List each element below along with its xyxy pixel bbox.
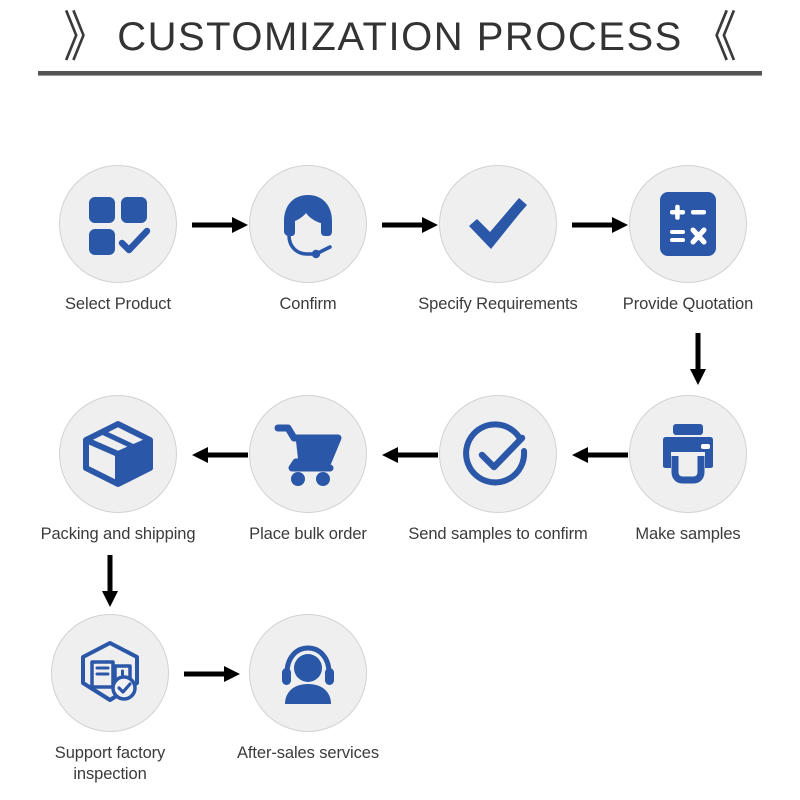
flow-step-label: Confirm bbox=[208, 294, 408, 315]
flow-step-select-product[interactable]: Select Product bbox=[18, 165, 218, 315]
calculator-icon bbox=[656, 190, 720, 258]
checkmark-icon bbox=[463, 189, 533, 259]
flow-step-icon-circle bbox=[439, 395, 557, 513]
package-box-icon bbox=[82, 420, 154, 488]
arrow-row2-to-row3 bbox=[98, 553, 122, 609]
shopping-cart-icon bbox=[272, 420, 344, 488]
title-divider bbox=[38, 71, 762, 76]
flow-step-icon-circle bbox=[249, 395, 367, 513]
flow-step-label: Specify Requirements bbox=[398, 294, 598, 315]
grid-check-icon bbox=[83, 189, 153, 259]
factory-inspection-icon bbox=[75, 638, 145, 708]
double-chevron-right-icon: 》 bbox=[63, 10, 109, 64]
flow-step-support-factory-inspection[interactable]: Support factory inspection bbox=[10, 614, 210, 785]
flow-step-icon-circle bbox=[59, 165, 177, 283]
flow-step-make-samples[interactable]: Make samples bbox=[588, 395, 788, 545]
flow-step-specify-requirements[interactable]: Specify Requirements bbox=[398, 165, 598, 315]
printer-icon bbox=[653, 422, 723, 486]
flow-step-label: Make samples bbox=[588, 524, 788, 545]
headset-person-icon bbox=[273, 640, 343, 706]
flow-step-icon-circle bbox=[249, 614, 367, 732]
flow-step-packing-and-shipping[interactable]: Packing and shipping bbox=[18, 395, 218, 545]
page-title: CUSTOMIZATION PROCESS bbox=[117, 17, 683, 57]
flow-step-label: Support factory inspection bbox=[10, 743, 210, 785]
flow-step-provide-quotation[interactable]: Provide Quotation bbox=[588, 165, 788, 315]
flow-step-after-sales-services[interactable]: After-sales services bbox=[208, 614, 408, 764]
arrow-row1-to-row2 bbox=[686, 331, 710, 387]
flow-step-icon-circle bbox=[249, 165, 367, 283]
circle-check-icon bbox=[463, 419, 533, 489]
flow-step-send-samples-to-confirm[interactable]: Send samples to confirm bbox=[398, 395, 598, 545]
flow-step-icon-circle bbox=[629, 395, 747, 513]
flow-step-icon-circle bbox=[629, 165, 747, 283]
flow-step-label: Packing and shipping bbox=[18, 524, 218, 545]
headset-operator-icon bbox=[272, 188, 344, 260]
page-header: 》 CUSTOMIZATION PROCESS 《 bbox=[0, 0, 800, 90]
flow-step-label: Send samples to confirm bbox=[398, 524, 598, 545]
flow-step-place-bulk-order[interactable]: Place bulk order bbox=[208, 395, 408, 545]
flow-step-label: Select Product bbox=[18, 294, 218, 315]
flow-step-icon-circle bbox=[439, 165, 557, 283]
flow-step-label: Provide Quotation bbox=[588, 294, 788, 315]
flow-step-icon-circle bbox=[59, 395, 177, 513]
flow-step-label: After-sales services bbox=[208, 743, 408, 764]
flow-step-label: Place bulk order bbox=[208, 524, 408, 545]
flow-step-confirm[interactable]: Confirm bbox=[208, 165, 408, 315]
title-row: 》 CUSTOMIZATION PROCESS 《 bbox=[0, 8, 800, 66]
double-chevron-left-icon: 《 bbox=[691, 10, 737, 64]
flow-step-icon-circle bbox=[51, 614, 169, 732]
